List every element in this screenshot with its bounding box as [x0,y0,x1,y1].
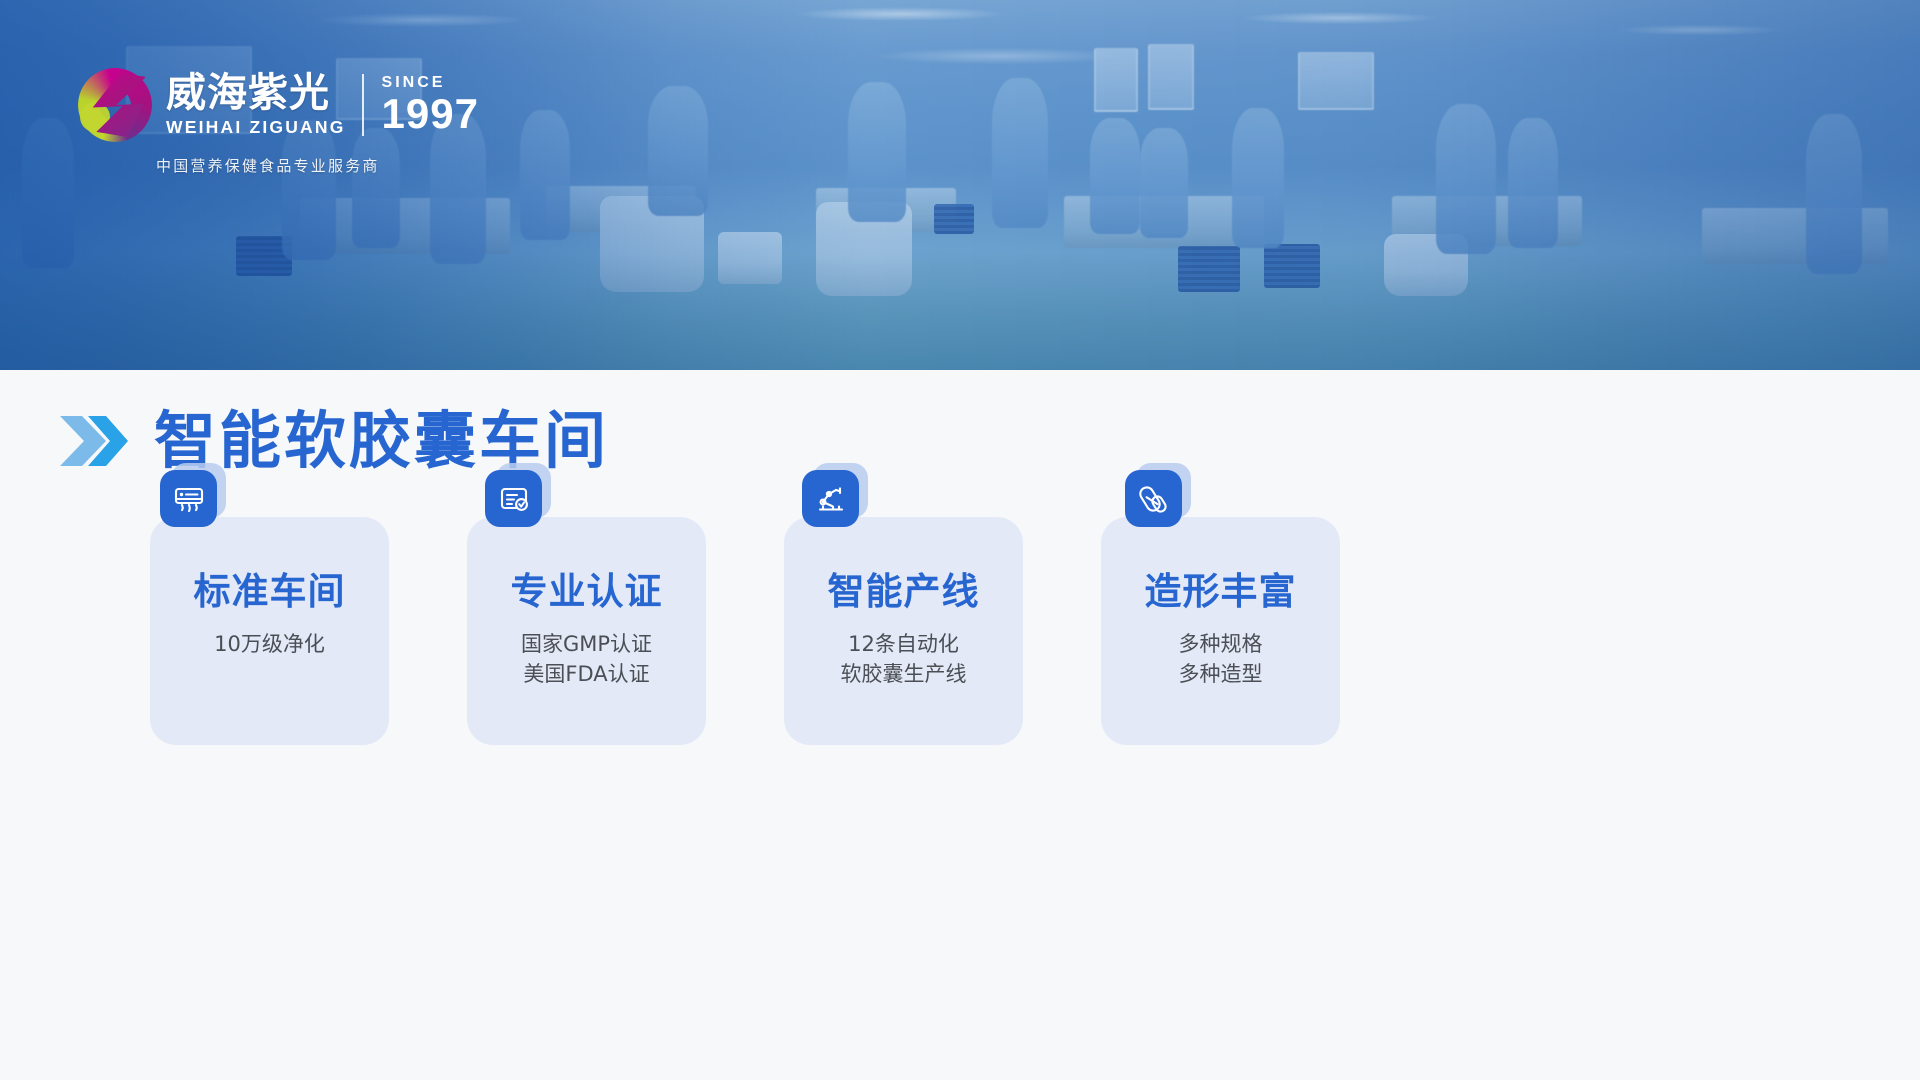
double-chevron-right-icon [58,412,128,470]
feature-card-title: 专业认证 [485,571,688,612]
brand-logo-block: 威海紫光 WEIHAI ZIGUANG SINCE 1997 中国营养保健食品专… [78,68,479,176]
feature-card[interactable]: 专业认证 国家GMP认证 美国FDA认证 [467,517,706,745]
logo-divider [362,74,364,136]
feature-card-slot: 专业认证 国家GMP认证 美国FDA认证 [467,517,706,745]
page-title: 智能软胶囊车间 [154,410,609,472]
ziguang-z-mark-icon [78,68,152,142]
since-block: SINCE 1997 [382,75,479,136]
feature-card-title: 造形丰富 [1119,571,1322,612]
feature-card-desc: 多种规格 多种造型 [1119,630,1322,690]
feature-card-title: 标准车间 [168,571,371,612]
hero-banner: 威海紫光 WEIHAI ZIGUANG SINCE 1997 中国营养保健食品专… [0,0,1920,370]
since-year: 1997 [382,93,479,136]
feature-card-desc: 12条自动化 软胶囊生产线 [802,630,1005,690]
capsule-pill-icon [1125,470,1187,532]
page-root: 威海紫光 WEIHAI ZIGUANG SINCE 1997 中国营养保健食品专… [0,0,1920,1080]
feature-card-slot: 标准车间 10万级净化 [150,517,389,745]
feature-card-list: 标准车间 10万级净化 专 [150,517,1340,745]
air-conditioner-icon [160,470,222,532]
since-label: SINCE [382,75,479,91]
hero-blue-gradient [0,0,1920,370]
robot-arm-icon [802,470,864,532]
feature-card-desc: 10万级净化 [168,630,371,660]
feature-card-slot: 智能产线 12条自动化 软胶囊生产线 [784,517,1023,745]
feature-card-slot: 造形丰富 多种规格 多种造型 [1101,517,1340,745]
feature-card[interactable]: 智能产线 12条自动化 软胶囊生产线 [784,517,1023,745]
brand-logo-row: 威海紫光 WEIHAI ZIGUANG SINCE 1997 [78,68,479,142]
brand-names: 威海紫光 WEIHAI ZIGUANG [166,72,346,138]
feature-card[interactable]: 标准车间 10万级净化 [150,517,389,745]
brand-name-cn: 威海紫光 [166,72,346,114]
certificate-check-icon [485,470,547,532]
feature-card-title: 智能产线 [802,571,1005,612]
feature-card-desc: 国家GMP认证 美国FDA认证 [485,630,688,690]
brand-name-en: WEIHAI ZIGUANG [166,117,346,138]
feature-card[interactable]: 造形丰富 多种规格 多种造型 [1101,517,1340,745]
brand-tagline: 中国营养保健食品专业服务商 [156,155,479,176]
